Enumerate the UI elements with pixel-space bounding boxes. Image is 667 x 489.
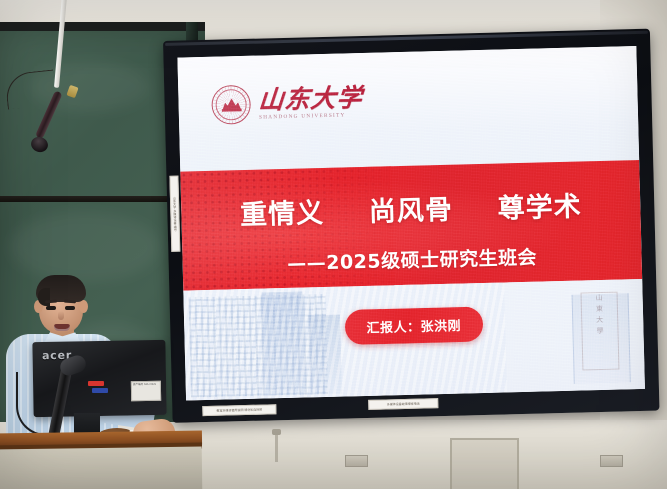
presenter-ear-right [79,300,88,313]
title-gap-2 [463,218,487,219]
wordmark-chinese: 山东大学 [258,85,364,113]
watermark-char-4: 學 [583,325,618,337]
monitor-port-red [88,381,104,386]
podium-front-panel[interactable] [0,447,202,489]
title-gap-1 [335,221,359,222]
wall-pipe-cap [272,429,281,435]
university-logo: 山东大学 SHANDONG UNIVERSITY [211,82,363,125]
chalkboard-frame-top [0,22,205,31]
watermark-char-2: 東 [582,304,617,316]
door[interactable] [450,438,519,489]
display-screen[interactable]: 山 東 大 學 山东大学 SHA [177,46,645,401]
display-bottom-label-center: 多媒体设备故障报修电话 [368,398,438,410]
display-asset-label: 山东大学 多媒体设备 编号 [169,176,180,252]
presentation-slide: 山 東 大 學 山东大学 SHA [177,46,645,401]
presenter-nose [58,311,64,320]
wall-pipe [275,432,278,462]
university-wordmark: 山东大学 SHANDONG UNIVERSITY [258,85,363,121]
presenter-badge: 汇报人：张洪刚 [344,307,483,345]
monitor-port-blue [92,388,108,393]
watermark-char-3: 大 [582,315,617,327]
led-display[interactable]: 山东大学 多媒体设备 编号 教室多媒体使用说明 请勿私自拆卸 多媒体设备故障报修… [163,29,660,423]
seal-radial-lines [212,86,250,124]
classroom-scene: 山东大学 多媒体设备 编号 教室多媒体使用说明 请勿私自拆卸 多媒体设备故障报修… [0,0,667,489]
presenter-eye-left [46,306,56,310]
chalkboard-rail [0,196,190,202]
presenter-hair [36,275,86,302]
slide-title-part-2: 尚风骨 [369,195,454,228]
slide-title-part-3: 尊学术 [497,192,582,225]
monitor-asset-sticker: 资产编号 SDU-0421 [131,381,161,402]
university-seal-icon [211,85,251,125]
presenter-mouth [54,324,70,331]
watermark-calligraphy-panel: 山 東 大 學 [581,292,619,370]
wall-fixture-left [345,455,368,467]
slide-title-part-1: 重情义 [240,198,325,231]
seal-mountain-icon [221,98,241,112]
display-bottom-label-left: 教室多媒体使用说明 请勿私自拆卸 [202,404,276,416]
wall-fixture-right [600,455,623,467]
presenter-eye-right [65,306,75,310]
